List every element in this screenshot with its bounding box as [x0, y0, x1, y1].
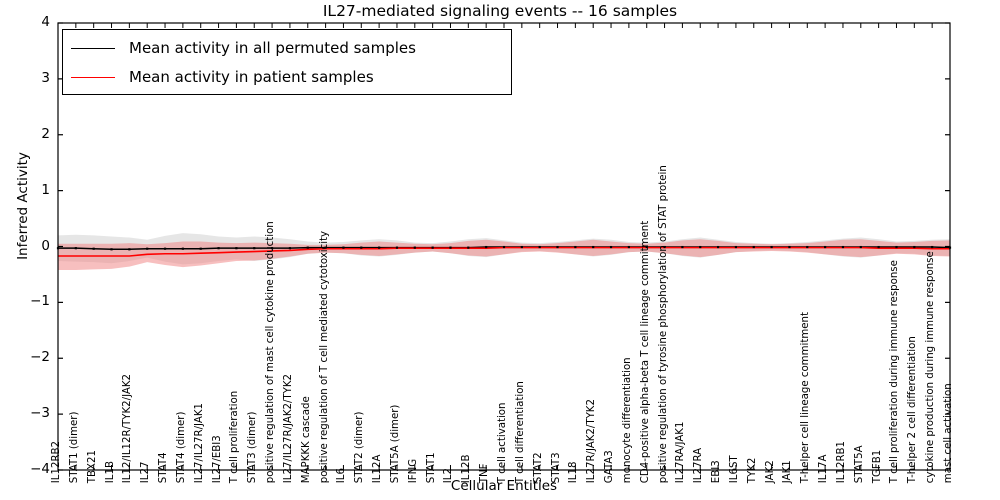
x-tick-label: JAK2	[765, 460, 775, 483]
data-point-marker	[539, 246, 541, 248]
x-tick-label: TGFB1	[872, 450, 882, 483]
chart-figure: IL27-mediated signaling events -- 16 sam…	[0, 0, 1000, 500]
data-point-marker	[467, 247, 469, 249]
x-tick-label: MAPKKK cascade	[302, 396, 312, 483]
x-tick-label: TBX21	[87, 450, 97, 483]
x-tick-label: cytokine production during immune respon…	[926, 251, 936, 483]
data-point-marker	[182, 248, 184, 250]
data-point-marker	[753, 246, 755, 248]
x-tick-label: STAT5A (dimer)	[391, 405, 401, 484]
x-tick-label: IL18	[569, 462, 579, 484]
y-tick-label: 0	[10, 238, 50, 254]
legend-line-swatch	[71, 77, 115, 78]
x-tick-label: IL12B	[462, 455, 472, 484]
data-point-marker	[931, 246, 933, 248]
x-tick-label: STAT2	[533, 452, 543, 483]
x-tick-label: T cell differentiation	[516, 381, 526, 483]
x-tick-label: T cell proliferation	[230, 391, 240, 483]
data-point-marker	[307, 247, 309, 249]
x-tick-label: mast cell activation	[944, 383, 954, 483]
x-tick-label: IL27R/JAK2/TYK2	[587, 399, 597, 483]
x-tick-label: STAT4	[159, 452, 169, 483]
x-tick-label: IL1B	[105, 461, 115, 483]
data-point-marker	[735, 246, 737, 248]
data-point-marker	[699, 246, 701, 248]
x-tick-label: IL27RA/JAK1	[676, 422, 686, 484]
x-tick-label: TNF	[480, 463, 490, 483]
data-point-marker	[93, 248, 95, 250]
x-tick-label: GATA3	[605, 450, 615, 483]
x-tick-label: IL12RB2	[52, 441, 62, 483]
data-point-marker	[396, 247, 398, 249]
x-tick-label: monocyte differentiation	[623, 357, 633, 483]
data-point-marker	[485, 246, 487, 248]
x-tick-label: EBI3	[712, 460, 722, 483]
data-point-marker	[556, 246, 558, 248]
data-point-marker	[432, 247, 434, 249]
legend-label: Mean activity in all permuted samples	[129, 39, 416, 57]
x-tick-label: IL27/IL27R/JAK2/TYK2	[284, 374, 294, 483]
data-point-marker	[771, 246, 773, 248]
x-tick-label: STAT1 (dimer)	[70, 412, 80, 484]
x-tick-label: STAT3	[551, 452, 561, 483]
data-point-marker	[878, 246, 880, 248]
data-point-marker	[503, 246, 505, 248]
data-point-marker	[806, 246, 808, 248]
chart-legend: Mean activity in all permuted samplesMea…	[62, 29, 512, 95]
data-point-marker	[717, 246, 719, 248]
x-tick-label: positive regulation of T cell mediated c…	[319, 231, 329, 483]
y-tick-label: −1	[10, 293, 50, 309]
x-tick-label: IL27	[141, 462, 151, 484]
legend-label: Mean activity in patient samples	[129, 68, 374, 86]
data-point-marker	[628, 246, 630, 248]
x-tick-label: IL17A	[819, 455, 829, 484]
legend-item: Mean activity in patient samples	[71, 63, 374, 91]
data-point-marker	[610, 246, 612, 248]
data-point-marker	[521, 246, 523, 248]
data-point-marker	[75, 247, 77, 249]
data-point-marker	[378, 247, 380, 249]
y-tick-label: 3	[10, 70, 50, 86]
data-point-marker	[895, 246, 897, 248]
x-tick-label: IL2	[444, 468, 454, 483]
data-point-marker	[360, 247, 362, 249]
legend-line-swatch	[71, 48, 115, 49]
data-point-marker	[146, 248, 148, 250]
x-tick-label: IFNG	[409, 459, 419, 483]
data-point-marker	[289, 247, 291, 249]
x-tick-label: IL27/EBI3	[212, 435, 222, 483]
x-tick-label: IL27RA	[694, 448, 704, 483]
x-tick-label: T-helper 2 cell differentiation	[908, 336, 918, 483]
x-tick-label: STAT3 (dimer)	[248, 412, 258, 484]
x-tick-label: IL27/IL27R/JAK1	[195, 403, 205, 483]
x-tick-label: IL12/IL12R/TYK2/JAK2	[123, 374, 133, 483]
data-point-marker	[913, 246, 915, 248]
x-tick-label: positive regulation of mast cell cytokin…	[266, 221, 276, 483]
data-point-marker	[235, 247, 237, 249]
data-point-marker	[449, 247, 451, 249]
x-tick-label: IL12RB1	[837, 441, 847, 483]
data-point-marker	[342, 247, 344, 249]
x-tick-label: IL12A	[373, 455, 383, 484]
data-point-marker	[824, 246, 826, 248]
data-point-marker	[592, 246, 594, 248]
y-tick-label: −3	[10, 405, 50, 421]
data-point-marker	[217, 247, 219, 249]
x-tick-label: STAT1	[426, 452, 436, 483]
x-tick-label: STAT2 (dimer)	[355, 412, 365, 484]
x-tick-label: T cell proliferation during immune respo…	[890, 260, 900, 483]
x-tick-label: positive regulation of tyrosine phosphor…	[658, 165, 668, 483]
data-point-marker	[128, 248, 130, 250]
y-tick-label: 4	[10, 14, 50, 30]
x-tick-label: JAK1	[783, 460, 793, 483]
confidence-band-patient	[58, 239, 950, 270]
data-point-marker	[253, 247, 255, 249]
data-point-marker	[200, 248, 202, 250]
x-tick-label: IL6ST	[730, 455, 740, 483]
data-point-marker	[681, 246, 683, 248]
y-tick-label: −2	[10, 349, 50, 365]
y-tick-label: 1	[10, 182, 50, 198]
y-tick-label: −4	[10, 461, 50, 477]
x-tick-label: CD4-positive alpha-beta T cell lineage c…	[641, 221, 651, 483]
y-tick-label: 2	[10, 126, 50, 142]
x-tick-label: TYK2	[748, 458, 758, 484]
data-point-marker	[414, 247, 416, 249]
data-point-marker	[574, 246, 576, 248]
data-point-marker	[164, 248, 166, 250]
x-tick-label: T-helper cell lineage commitment	[801, 312, 811, 483]
x-tick-label: STAT4 (dimer)	[177, 412, 187, 484]
legend-item: Mean activity in all permuted samples	[71, 34, 416, 62]
data-point-marker	[788, 246, 790, 248]
data-point-marker	[860, 246, 862, 248]
x-tick-label: STAT5A	[855, 445, 865, 483]
data-point-marker	[842, 246, 844, 248]
data-point-marker	[110, 248, 112, 250]
x-tick-label: T cell activation	[498, 403, 508, 484]
x-tick-label: IL6	[337, 468, 347, 483]
